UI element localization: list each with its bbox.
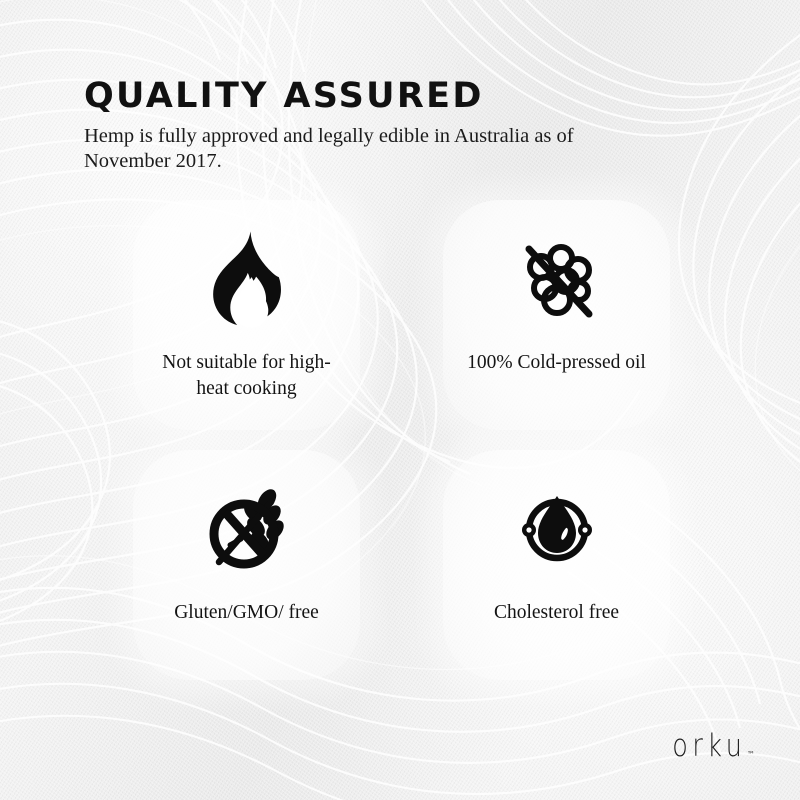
feature-card-label: 100% Cold-pressed oil xyxy=(457,350,657,376)
feature-cards-grid: Not suitable for high-heat cooking xyxy=(133,200,670,680)
page-subtitle: Hemp is fully approved and legally edibl… xyxy=(84,124,594,174)
feature-card-cold-pressed: 100% Cold-pressed oil xyxy=(443,200,670,430)
logo-wordmark: orku xyxy=(672,731,746,762)
feature-card-label: Cholesterol free xyxy=(457,600,657,626)
feature-card-label: Not suitable for high-heat cooking xyxy=(147,350,347,402)
oil-droplet-icon xyxy=(509,474,605,586)
feature-card-label: Gluten/GMO/ free xyxy=(147,600,347,626)
poster-canvas: QUALITY ASSURED Hemp is fully approved a… xyxy=(0,0,800,800)
brand-logo: orku ™ xyxy=(656,731,755,762)
page-title: QUALITY ASSURED xyxy=(84,76,684,116)
flame-icon xyxy=(209,224,285,336)
header-block: QUALITY ASSURED Hemp is fully approved a… xyxy=(84,76,684,174)
trademark-symbol: ™ xyxy=(747,751,755,759)
no-bubbles-icon xyxy=(511,224,603,336)
feature-card-high-heat: Not suitable for high-heat cooking xyxy=(133,200,360,430)
no-wheat-icon xyxy=(199,474,295,586)
feature-card-cholesterol-free: Cholesterol free xyxy=(443,450,670,680)
feature-card-gluten-gmo-free: Gluten/GMO/ free xyxy=(133,450,360,680)
